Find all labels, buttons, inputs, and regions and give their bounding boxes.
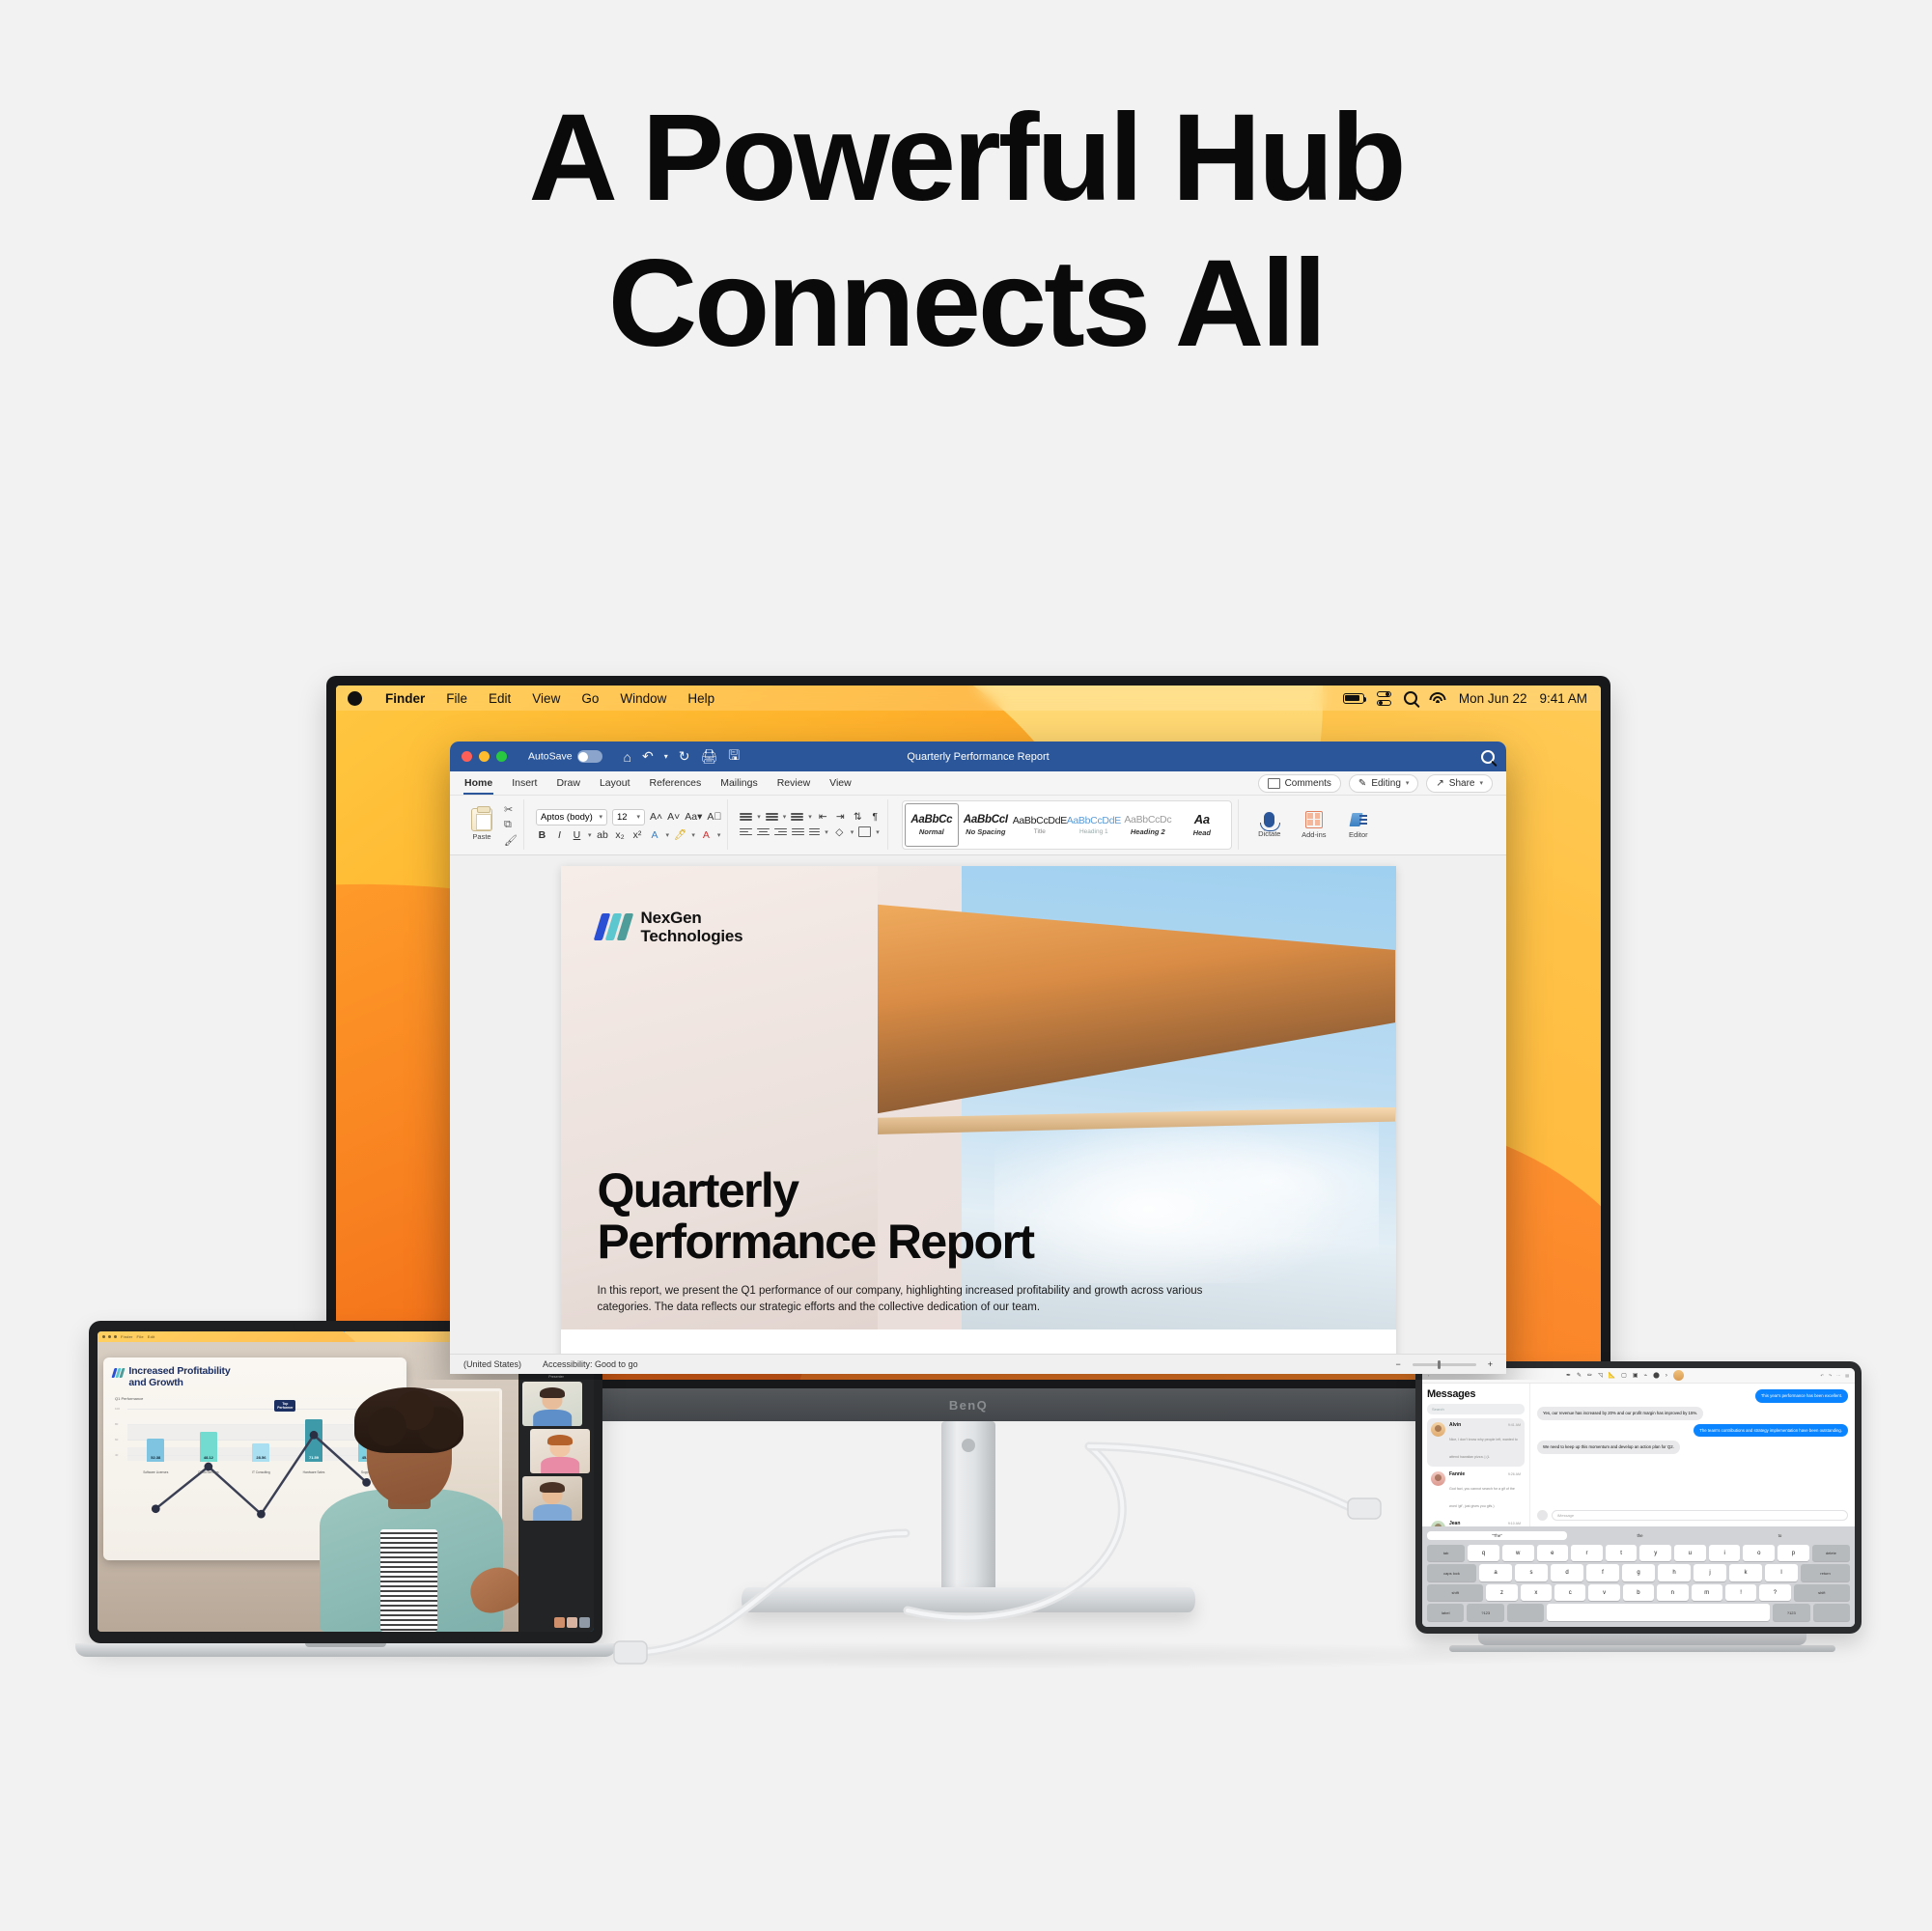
multilevel-list-icon[interactable] [791,813,803,820]
message-time: 9:10 AM [1508,1522,1521,1525]
clipboard-group[interactable]: Paste ✂ ⧉ 🖌 [458,799,524,850]
minimize-icon[interactable] [479,751,490,762]
logo-name-line-1: NexGen [641,909,702,927]
ribbon-tabs[interactable]: Home Insert Draw Layout References Maili… [450,771,1506,796]
message-thread[interactable]: This year's performance has been excelle… [1530,1384,1855,1526]
key-g[interactable]: g [1622,1564,1655,1581]
key-e[interactable]: e [1537,1545,1569,1562]
contact-name: Fannie [1449,1471,1465,1477]
message-time: 9:26 AM [1508,1472,1521,1476]
ribbon-end-group[interactable]: Dictate Add-ins Editor [1245,799,1376,850]
key-numbers-left[interactable]: ?123 [1467,1604,1503,1621]
style-title[interactable]: AaBbCcDdE Title [1013,803,1067,847]
laptop-screen: FinderFileEdit 9:41 AM Increased Profita… [98,1331,594,1632]
self-name-label: Presenter [548,1375,564,1379]
key-f[interactable]: f [1586,1564,1619,1581]
document-heading: Quarterly Performance Report [598,1165,1332,1268]
x-label-0: Software Licenses [141,1470,170,1474]
slide-title-line-2: and Growth [128,1377,182,1388]
keyboard-row-2[interactable]: caps lock a s d f g h j k l return [1427,1564,1850,1581]
decrease-indent-icon[interactable]: ⇤ [817,812,829,823]
shapes-icon[interactable]: ▢ [1621,1372,1627,1379]
italic-button[interactable]: I [553,830,566,841]
bold-button[interactable]: B [536,830,548,841]
tab-layout[interactable]: Layout [599,774,631,792]
key-question[interactable]: ? [1759,1584,1790,1602]
sort-icon[interactable]: ⇅ [852,812,864,823]
tablet-connector [1348,1498,1381,1519]
key-t[interactable]: t [1606,1545,1638,1562]
font-size-select[interactable]: 12▾ [612,809,645,826]
paragraph-group[interactable]: ▾ ▾ ▾ ⇤ ⇥ ⇅ ¶ [734,799,888,850]
list-item[interactable]: Jean 9:10 AM Maybe email isn't the best … [1427,1517,1525,1526]
laptop-notch [294,1321,398,1331]
participants-panel[interactable]: Presenter [518,1342,594,1632]
key-exclamation[interactable]: ! [1725,1584,1756,1602]
key-q[interactable]: q [1468,1545,1499,1562]
document-body-text: In this report, we present the Q1 perfor… [598,1283,1232,1317]
pencil-icon[interactable]: ✏ [1587,1372,1592,1379]
save-icon[interactable]: 🖫 [728,745,740,769]
style-heading-2[interactable]: AaBbCcDc Heading 2 [1121,803,1175,847]
monitor-stand-base [742,1587,1195,1612]
tab-view[interactable]: View [828,774,853,792]
image-icon[interactable]: ▣ [1633,1372,1638,1379]
participant-strip[interactable] [522,1617,590,1628]
key-caps-lock[interactable]: caps lock [1427,1564,1476,1581]
participant-thumbnail[interactable] [522,1382,582,1426]
tablet-stand [1478,1634,1806,1645]
search-icon[interactable] [1404,691,1417,705]
app-title: Messages [1427,1388,1525,1400]
strikethrough-button[interactable]: ab [596,830,608,841]
home-icon[interactable]: ⌂ [624,749,631,765]
key-c[interactable]: c [1554,1584,1585,1602]
message-input[interactable]: iMessage [1552,1510,1848,1521]
key-emoji[interactable] [1507,1604,1544,1621]
monitor-stand-neck [941,1421,995,1593]
key-shift-right[interactable]: shift [1794,1584,1850,1602]
tablet-stand-base [1449,1645,1835,1652]
avatar [1431,1471,1445,1486]
font-name-select[interactable]: Aptos (body)▾ [536,809,607,826]
menu-item-view[interactable]: View [521,691,571,706]
x-label-2: IT Consulting [246,1470,275,1474]
monitor-brand-label: BenQ [949,1398,988,1413]
add-ins-button[interactable]: Add-ins [1297,811,1331,839]
y-tick-40: 40 [115,1453,118,1457]
increase-indent-icon[interactable]: ⇥ [834,812,847,823]
apple-logo-icon[interactable] [348,691,362,706]
contact-name: Alvin [1449,1422,1461,1428]
share-icon: ↗ [1436,778,1443,789]
change-case-icon[interactable]: Aa▾ [685,812,702,823]
key-u[interactable]: u [1674,1545,1706,1562]
align-left-icon[interactable] [740,828,752,835]
keyboard-row-4[interactable]: label ?123 ?123 [1427,1604,1850,1621]
eraser-icon[interactable]: ◹ [1598,1372,1603,1379]
comment-icon [1268,778,1280,789]
tab-draw[interactable]: Draw [555,774,581,792]
autosave-toggle[interactable]: AutoSave [528,750,602,763]
suggestion-2[interactable]: to [1710,1533,1850,1538]
key-keyboard-hide[interactable] [1813,1604,1850,1621]
video-call-window[interactable]: Increased Profitability and Growth Q1 Pe… [98,1342,594,1632]
document-title: Quarterly Performance Report [450,751,1506,763]
align-right-icon[interactable] [774,828,787,835]
comments-button[interactable]: Comments [1258,774,1341,793]
search-input[interactable]: Search [1427,1404,1525,1414]
quick-access-toolbar[interactable]: ⌂ ↶ ▾ ↻ 🖨 🖫 [624,745,741,769]
style-gallery[interactable]: AaBbCc Normal AaBbCcI No Spacing AaBbCcD… [902,800,1232,850]
tab-review[interactable]: Review [776,774,811,792]
tablet-body: ‹ ✒ ✎ ✏ ◹ 📐 ▢ ▣ ⌁ ⬤ › ↶ [1415,1361,1862,1634]
y-tick-80: 80 [115,1422,118,1426]
tab-references[interactable]: References [649,774,703,792]
share-button[interactable]: ↗ Share▾ [1426,774,1493,793]
print-icon[interactable]: 🖨 [701,748,718,765]
menu-item-help[interactable]: Help [677,691,725,706]
style-no-spacing[interactable]: AaBbCcI No Spacing [959,803,1013,847]
avatar [1431,1521,1445,1526]
format-painter-icon[interactable]: 🖌 [504,834,518,847]
status-accessibility[interactable]: Accessibility: Good to go [543,1359,638,1369]
borders-icon[interactable] [858,826,871,837]
message-compose-row[interactable]: iMessage [1537,1510,1848,1521]
clipboard-icon [471,808,492,831]
message-time: 9:41 AM [1508,1423,1521,1427]
key-v[interactable]: v [1588,1584,1619,1602]
bullets-icon[interactable] [740,813,752,820]
list-item[interactable]: Alvin 9:41 AM Nice, I don't know why peo… [1427,1418,1525,1467]
status-language[interactable]: (United States) [463,1359,521,1369]
zoom-out-icon[interactable]: − [1395,1359,1400,1369]
slide-title-line-1: Increased Profitability [128,1365,230,1377]
redo-icon[interactable]: ↷ [1829,1373,1832,1378]
layout-icon[interactable]: ▤ [1845,1373,1849,1378]
tab-insert[interactable]: Insert [511,774,538,792]
message-bubble: Yes, our revenue has increased by 20% an… [1537,1407,1703,1420]
suggestion-0[interactable]: "The" [1427,1531,1567,1540]
style-heading-3[interactable]: Aa Head [1175,803,1229,847]
document-canvas[interactable]: NexGen Technologies Quarterly Performanc… [450,855,1506,1374]
chevron-down-icon[interactable]: ▾ [664,752,668,761]
nexgen-logo-icon [598,913,630,940]
grow-font-icon[interactable]: A˄ [650,812,662,823]
tablet-screen: ‹ ✒ ✎ ✏ ◹ 📐 ▢ ▣ ⌁ ⬤ › ↶ [1422,1368,1855,1627]
word-window: AutoSave ⌂ ↶ ▾ ↻ 🖨 🖫 Quarterly Performan… [450,742,1506,1374]
key-r[interactable]: r [1571,1545,1603,1562]
menu-item-file[interactable]: File [435,691,478,706]
onscreen-keyboard[interactable]: "The" the to tab q w e r t y u i o [1422,1526,1855,1627]
maximize-icon[interactable] [496,751,507,762]
chevron-right-icon[interactable]: › [1666,1373,1667,1379]
style-normal[interactable]: AaBbCc Normal [905,803,959,847]
key-l[interactable]: l [1765,1564,1798,1581]
laptop-base [75,1643,616,1657]
key-o[interactable]: o [1743,1545,1775,1562]
y-tick-100: 100 [115,1407,120,1411]
key-n[interactable]: n [1657,1584,1688,1602]
participant-thumbnail[interactable] [522,1476,582,1521]
tablet: ‹ ✒ ✎ ✏ ◹ 📐 ▢ ▣ ⌁ ⬤ › ↶ [1415,1361,1869,1652]
pen-icon[interactable]: ✒ [1566,1372,1571,1379]
tab-mailings[interactable]: Mailings [719,774,759,792]
document-heading-line-2: Performance Report [598,1215,1034,1269]
document-logo: NexGen Technologies [598,909,743,945]
marker-icon[interactable]: ✎ [1577,1372,1582,1379]
microphone-icon [1264,812,1274,827]
redo-icon[interactable]: ↻ [679,748,690,765]
justify-icon[interactable] [792,828,804,835]
line-spacing-icon[interactable] [809,828,820,835]
battery-icon[interactable] [1343,693,1364,704]
video-call-main-stage[interactable]: Increased Profitability and Growth Q1 Pe… [98,1342,518,1632]
markup-tools[interactable]: ✒ ✎ ✏ ◹ 📐 ▢ ▣ ⌁ ⬤ › [1566,1370,1684,1381]
key-s[interactable]: s [1515,1564,1548,1581]
key-return[interactable]: return [1801,1564,1850,1581]
word-search-icon[interactable] [1481,750,1495,764]
highlight-icon[interactable]: 🖊 [674,830,686,841]
underline-button[interactable]: U [571,830,583,841]
keyboard-row-1[interactable]: tab q w e r t y u i o p delete [1427,1545,1850,1562]
undo-icon[interactable]: ↶ [642,748,654,765]
suggestion-1[interactable]: the [1570,1533,1710,1538]
tab-home[interactable]: Home [463,774,493,792]
key-k[interactable]: k [1729,1564,1762,1581]
key-globe[interactable]: label [1427,1604,1464,1621]
text-effects-icon[interactable]: A [648,830,660,841]
control-center-icon[interactable] [1377,691,1391,706]
paste-button[interactable]: Paste [463,808,500,841]
external-monitor: Finder File Edit View Go Window Help Mon… [326,676,1610,1388]
key-a[interactable]: a [1479,1564,1512,1581]
key-space[interactable] [1547,1604,1770,1621]
menu-item-go[interactable]: Go [571,691,609,706]
add-attachment-icon[interactable] [1537,1510,1548,1521]
message-bubble: We need to keep up this momentum and dev… [1537,1441,1680,1454]
avatar [1431,1422,1445,1437]
more-icon[interactable]: ⋯ [1836,1373,1840,1378]
menu-item-edit[interactable]: Edit [478,691,521,706]
keyboard-suggestions[interactable]: "The" the to [1427,1530,1850,1541]
zoom-slider[interactable] [1413,1363,1476,1366]
dictate-button[interactable]: Dictate [1252,812,1287,838]
nexgen-logo-icon [113,1368,124,1378]
subscript-button[interactable]: x₂ [613,830,626,841]
tablet-cable [1089,1446,1352,1508]
key-y[interactable]: y [1639,1545,1671,1562]
styles-group[interactable]: AaBbCc Normal AaBbCcI No Spacing AaBbCcD… [894,799,1239,850]
key-shift-left[interactable]: shift [1427,1584,1483,1602]
key-j[interactable]: j [1694,1564,1726,1581]
wifi-icon[interactable] [1430,692,1446,705]
copy-icon[interactable]: ⧉ [504,819,518,831]
x-label-1: Cloud Services [194,1470,223,1474]
list-item[interactable]: Fannie 9:26 AM God fact, you cannot sear… [1427,1468,1525,1516]
document-heading-line-1: Quarterly [598,1163,798,1217]
ruler-icon[interactable]: 📐 [1609,1372,1615,1379]
monitor-screen: Finder File Edit View Go Window Help Mon… [336,686,1601,1380]
editing-mode-button[interactable]: ✎ Editing▾ [1349,774,1418,793]
message-preview: Nice, I don't know why people left, want… [1449,1438,1518,1459]
font-group[interactable]: Aptos (body)▾ 12▾ A˄ A˅ Aa▾ A⃠ [530,799,728,850]
key-w[interactable]: w [1502,1545,1534,1562]
window-controls[interactable] [462,751,507,762]
cut-icon[interactable]: ✂ [504,803,518,816]
shrink-font-icon[interactable]: A˅ [667,812,680,823]
font-color-icon[interactable]: A [700,830,713,841]
show-marks-icon[interactable]: ¶ [869,812,882,823]
monitor-bezel: Finder File Edit View Go Window Help Mon… [326,676,1610,1388]
style-heading-1[interactable]: AaBbCcDdE Heading 1 [1067,803,1121,847]
message-bubble: This year's performance has been excelle… [1755,1389,1848,1403]
key-z[interactable]: z [1486,1584,1517,1602]
key-p[interactable]: p [1778,1545,1809,1562]
y-tick-60: 60 [115,1438,118,1441]
message-bubble: The team's contributions and strategy im… [1694,1424,1848,1438]
close-icon[interactable] [462,751,472,762]
key-h[interactable]: h [1658,1564,1691,1581]
editor-icon [1350,811,1367,828]
key-m[interactable]: m [1692,1584,1722,1602]
menu-item-window[interactable]: Window [609,691,677,706]
clear-formatting-icon[interactable]: A⃠ [707,812,721,823]
pencil-icon: ✎ [1358,778,1366,789]
key-b[interactable]: b [1623,1584,1654,1602]
keyboard-row-3[interactable]: shift z x c v b n m ! ? shift [1427,1584,1850,1602]
key-d[interactable]: d [1551,1564,1583,1581]
word-status-bar[interactable]: (United States) Accessibility: Good to g… [450,1354,1506,1374]
key-tab[interactable]: tab [1427,1545,1465,1562]
key-x[interactable]: x [1521,1584,1552,1602]
undo-icon[interactable]: ↶ [1820,1373,1823,1378]
macos-menu-bar[interactable]: Finder File Edit View Go Window Help Mon… [336,686,1601,711]
add-ins-icon [1305,811,1323,828]
lasso-icon[interactable]: ⌁ [1644,1372,1648,1379]
presenter-video [292,1377,518,1632]
color-icon[interactable]: ⬤ [1653,1372,1660,1379]
ribbon-toolbar[interactable]: Paste ✂ ⧉ 🖌 [450,796,1506,855]
messages-app: Messages Search Alvin 9:41 AM Nice, I do… [1422,1384,1855,1526]
align-center-icon[interactable] [757,828,770,835]
participant-thumbnail[interactable] [530,1429,590,1473]
editor-button[interactable]: Editor [1341,811,1376,839]
avatar[interactable] [1673,1370,1684,1381]
shading-icon[interactable]: ◇ [833,827,846,838]
logo-name-line-2: Technologies [641,927,743,945]
numbering-icon[interactable] [766,813,778,820]
menubar-date[interactable]: Mon Jun 22 [1459,691,1527,706]
document-cover-image: NexGen Technologies Quarterly Performanc… [561,866,1396,1329]
key-numbers-right[interactable]: ?123 [1773,1604,1809,1621]
key-i[interactable]: i [1709,1545,1741,1562]
menu-item-finder[interactable]: Finder [375,691,435,706]
menubar-time[interactable]: 9:41 AM [1539,691,1587,706]
word-title-bar: AutoSave ⌂ ↶ ▾ ↻ 🖨 🖫 Quarterly Performan… [450,742,1506,771]
superscript-button[interactable]: x² [630,830,643,841]
message-preview: God fact, you cannot search for a gif of… [1449,1487,1515,1508]
conversation-list[interactable]: Messages Search Alvin 9:41 AM Nice, I do… [1422,1384,1530,1526]
zoom-in-icon[interactable]: + [1488,1359,1493,1369]
document-page: NexGen Technologies Quarterly Performanc… [561,866,1396,1374]
key-delete[interactable]: delete [1812,1545,1850,1562]
product-scene: Finder File Edit View Go Window Help Mon… [0,0,1932,1931]
